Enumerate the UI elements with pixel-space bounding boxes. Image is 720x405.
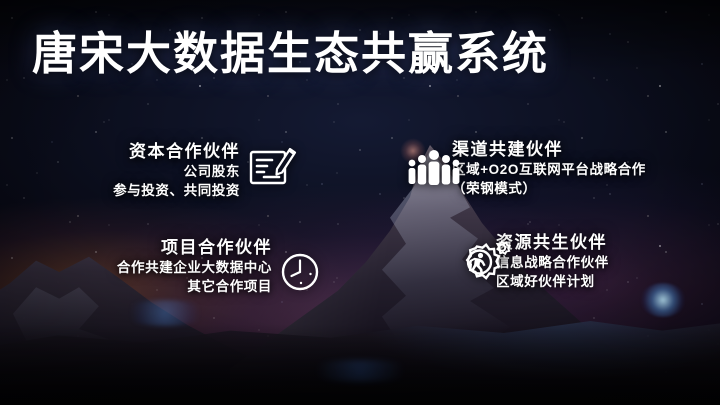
block-project-heading: 项目合作伙伴 bbox=[0, 238, 272, 258]
block-channel-line-2: （荣钢模式） bbox=[452, 179, 720, 199]
block-channel-line-1: 区域+O2O互联网平台战略合作 bbox=[452, 160, 720, 180]
block-resource-line-1: 信息战略合作伙伴 bbox=[496, 253, 720, 273]
block-project-line-2: 其它合作项目 bbox=[0, 277, 272, 297]
block-capital-partner: 资本合作伙伴 公司股东 参与投资、共同投资 bbox=[0, 142, 240, 201]
slide-canvas: 唐宋大数据生态共赢系统 资本合作伙伴 公司股东 参与投资、共同投资 渠道共建伙伴… bbox=[0, 0, 720, 405]
slide-content: 唐宋大数据生态共赢系统 资本合作伙伴 公司股东 参与投资、共同投资 渠道共建伙伴… bbox=[0, 0, 720, 405]
page-title: 唐宋大数据生态共赢系统 bbox=[32, 31, 549, 76]
block-channel-partner: 渠道共建伙伴 区域+O2O互联网平台战略合作 （荣钢模式） bbox=[452, 140, 720, 199]
block-resource-heading: 资源共生伙伴 bbox=[496, 233, 720, 253]
block-project-partner: 项目合作伙伴 合作共建企业大数据中心 其它合作项目 bbox=[0, 238, 272, 297]
clock-icon bbox=[279, 251, 321, 293]
block-channel-heading: 渠道共建伙伴 bbox=[452, 140, 720, 160]
block-capital-heading: 资本合作伙伴 bbox=[0, 142, 240, 162]
block-project-line-1: 合作共建企业大数据中心 bbox=[0, 258, 272, 278]
contract-pen-icon bbox=[248, 143, 298, 191]
block-resource-line-2: 区域好伙伴计划 bbox=[496, 272, 720, 292]
block-resource-partner: 资源共生伙伴 信息战略合作伙伴 区域好伙伴计划 bbox=[496, 233, 720, 292]
people-group-icon bbox=[406, 146, 462, 190]
block-capital-line-2: 参与投资、共同投资 bbox=[0, 181, 240, 201]
gear-person-icon bbox=[455, 236, 511, 292]
block-capital-line-1: 公司股东 bbox=[0, 162, 240, 182]
